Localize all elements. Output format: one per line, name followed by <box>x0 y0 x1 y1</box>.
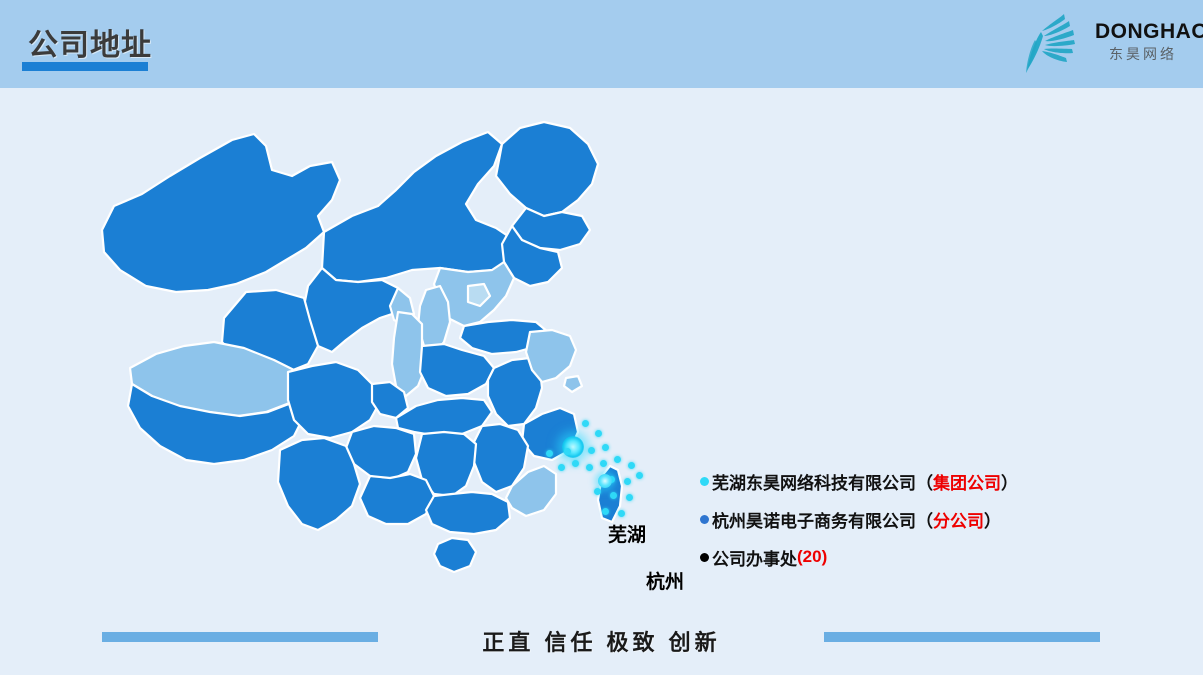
region-hainan <box>434 538 476 572</box>
legend-accent: 分公司 <box>933 507 984 532</box>
legend-item-group-company[interactable]: 芜湖东昊网络科技有限公司 （ 集团公司 ） <box>700 462 1100 500</box>
office-dot[interactable] <box>602 508 609 515</box>
office-dot[interactable] <box>600 460 607 467</box>
legend-accent: 集团公司 <box>933 469 1001 494</box>
office-dot[interactable] <box>610 492 617 499</box>
office-dot[interactable] <box>594 488 601 495</box>
region-yunnan <box>278 438 360 530</box>
legend-paren-open: （ <box>916 507 933 532</box>
region-guangxi <box>360 474 434 524</box>
legend-label: 公司办事处 <box>712 545 797 570</box>
legend-paren-close: ） <box>1001 469 1018 494</box>
office-dot[interactable] <box>595 430 602 437</box>
legend-paren-close: ) <box>822 547 828 567</box>
footer-slogan: 正直 信任 极致 创新 <box>0 625 1203 657</box>
office-dot[interactable] <box>614 456 621 463</box>
bullet-icon <box>700 477 709 486</box>
office-dot[interactable] <box>628 462 635 469</box>
logo-subtitle: 东昊网络 <box>1095 45 1191 63</box>
china-map-svg <box>96 120 676 610</box>
legend-accent: 20 <box>803 547 822 567</box>
bullet-icon <box>700 515 709 524</box>
region-guangdong <box>426 492 510 534</box>
logo-text: DONGHAO 东昊网络 <box>1095 20 1191 63</box>
legend-item-offices[interactable]: 公司办事处 ( 20 ) <box>700 538 1100 576</box>
bullet-icon <box>700 553 709 562</box>
title-underline <box>22 62 148 71</box>
office-dot[interactable] <box>618 510 625 517</box>
office-dot[interactable] <box>626 494 633 501</box>
page-title: 公司地址 <box>28 20 152 64</box>
region-heilongjiang <box>496 122 598 216</box>
brand-logo: DONGHAO 东昊网络 <box>1011 6 1189 80</box>
city-marker-hangzhou[interactable] <box>598 474 612 488</box>
office-dot[interactable] <box>564 448 571 455</box>
logo-name: DONGHAO <box>1095 20 1191 44</box>
legend-label: 芜湖东昊网络科技有限公司 <box>712 469 916 494</box>
region-xinjiang <box>102 134 340 292</box>
city-label-hangzhou: 杭州 <box>646 567 684 594</box>
region-hubei <box>396 398 492 436</box>
office-dot[interactable] <box>636 472 643 479</box>
legend: 芜湖东昊网络科技有限公司 （ 集团公司 ） 杭州昊诺电子商务有限公司 （ 分公司… <box>700 462 1100 576</box>
office-dot[interactable] <box>582 420 589 427</box>
city-label-wuhu: 芜湖 <box>608 520 646 547</box>
office-dot[interactable] <box>624 478 631 485</box>
legend-paren-open: （ <box>916 469 933 494</box>
office-dot[interactable] <box>546 450 553 457</box>
region-inner-mongolia <box>322 132 530 282</box>
office-dot[interactable] <box>572 460 579 467</box>
legend-paren-close: ） <box>984 507 1001 532</box>
office-dot[interactable] <box>586 464 593 471</box>
feather-fan-icon <box>1017 8 1095 78</box>
office-dot[interactable] <box>558 464 565 471</box>
office-dot[interactable] <box>588 447 595 454</box>
legend-label: 杭州昊诺电子商务有限公司 <box>712 507 916 532</box>
legend-item-branch-company[interactable]: 杭州昊诺电子商务有限公司 （ 分公司 ） <box>700 500 1100 538</box>
region-sichuan <box>288 362 380 438</box>
office-dot[interactable] <box>602 444 609 451</box>
china-map[interactable]: 芜湖 杭州 <box>96 120 676 610</box>
region-shanghai <box>564 376 582 392</box>
